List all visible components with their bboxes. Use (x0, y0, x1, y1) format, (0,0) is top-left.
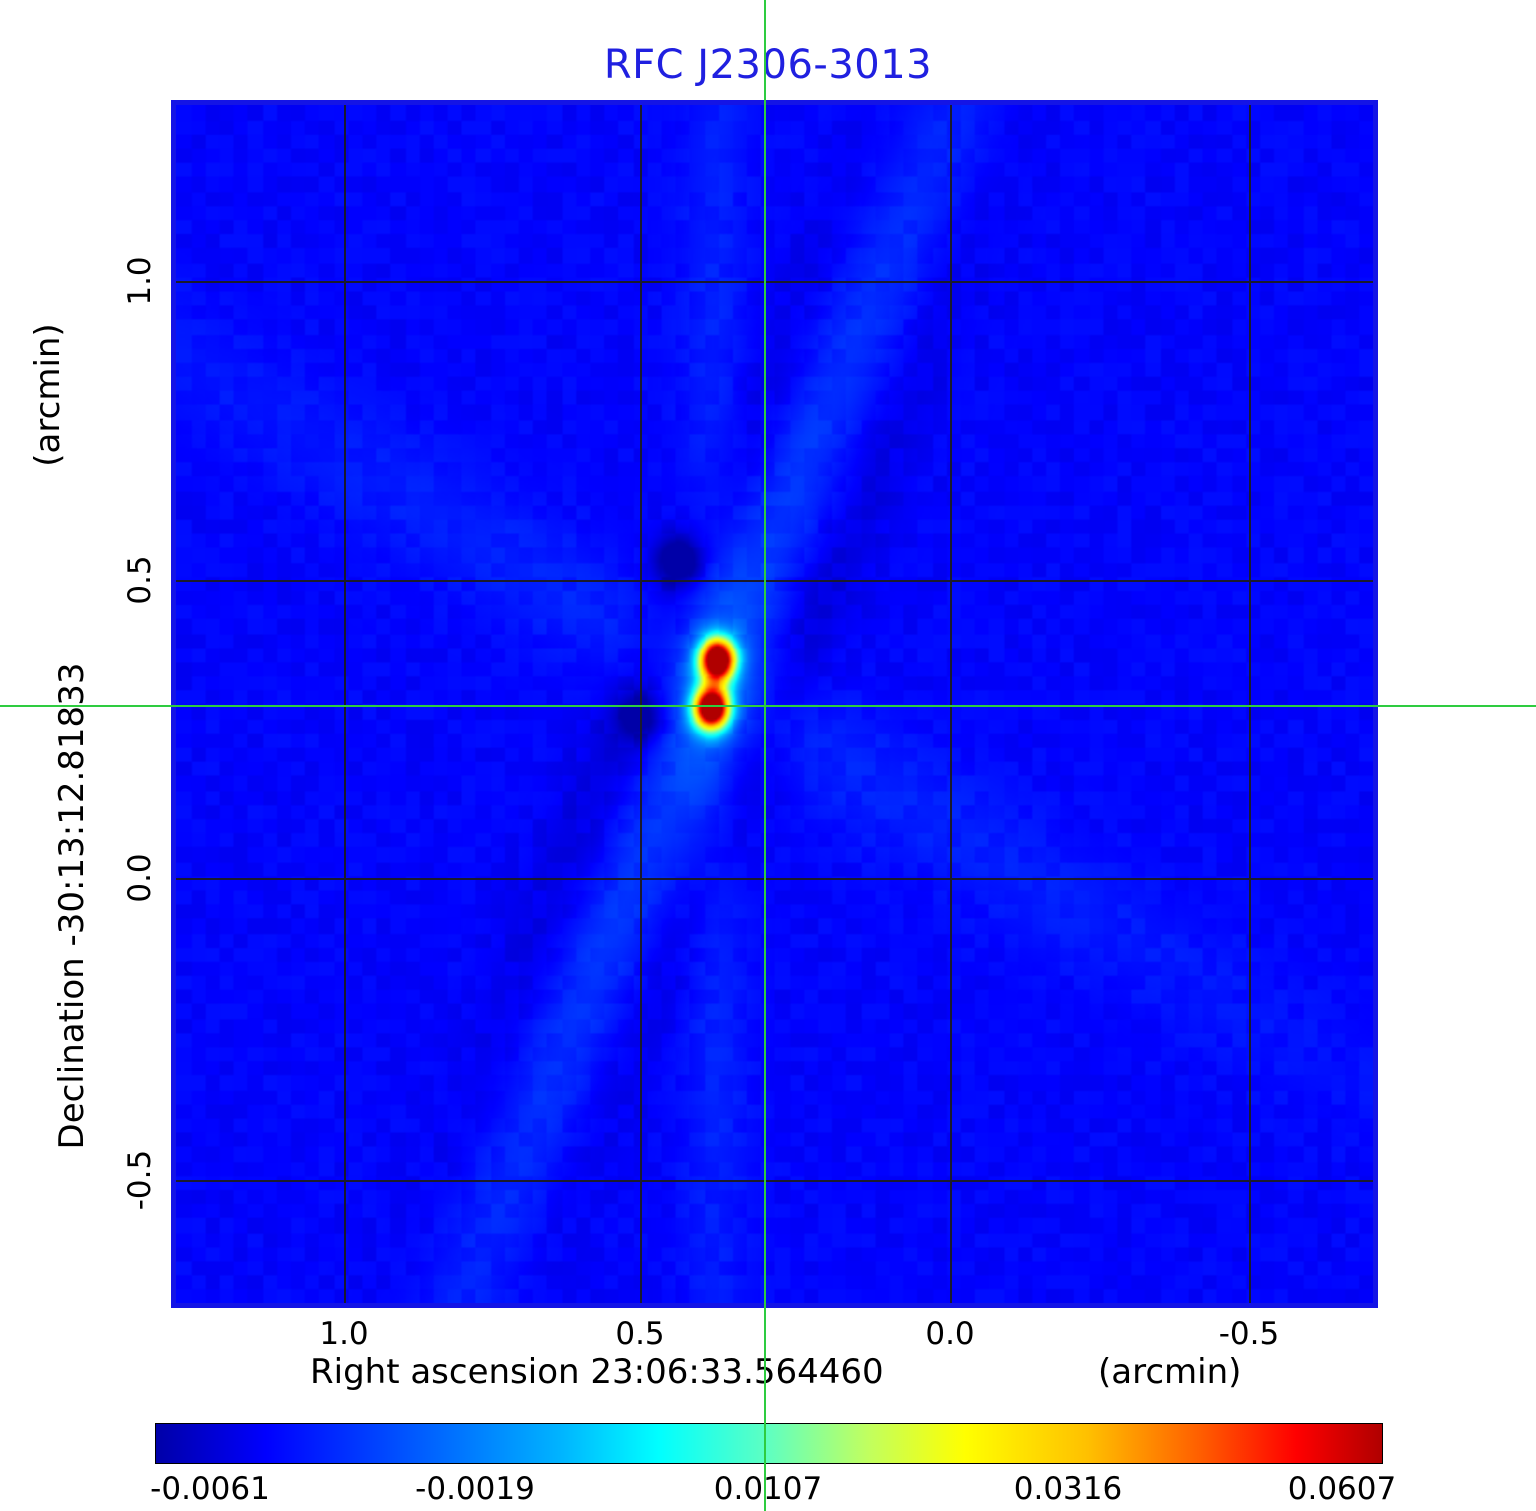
y-axis-title: Declination -30:13:12.81833 (52, 556, 92, 1256)
colorbar-tick-label: 0.0316 (1014, 1471, 1122, 1507)
colorbar-tick-label: -0.0061 (150, 1471, 270, 1507)
x-tick-label: -0.5 (1219, 1316, 1280, 1352)
crosshair-horizontal-line[interactable] (0, 705, 1536, 707)
x-tick-label: 1.0 (319, 1316, 368, 1352)
y-tick-label: 1.0 (122, 256, 158, 305)
crosshair-vertical-line[interactable] (764, 0, 766, 1511)
heatmap-plot-frame[interactable] (171, 100, 1378, 1308)
colorbar-gradient (156, 1424, 1382, 1463)
x-axis-title: Right ascension 23:06:33.564460 (310, 1352, 884, 1392)
y-axis-unit-label: (arcmin) (28, 195, 68, 595)
y-tick-label: -0.5 (122, 1150, 158, 1211)
x-tick-label: 0.5 (615, 1316, 664, 1352)
page-title: RFC J2306-3013 (0, 42, 1536, 88)
colorbar-tick-label: 0.0107 (714, 1471, 822, 1507)
colorbar-tick-label: -0.0019 (415, 1471, 535, 1507)
x-tick-label: 0.0 (925, 1316, 974, 1352)
y-tick-label: 0.0 (122, 853, 158, 902)
y-tick-label: 0.5 (122, 555, 158, 604)
colorbar[interactable] (155, 1423, 1383, 1464)
x-axis-unit-label: (arcmin) (1098, 1352, 1241, 1392)
colorbar-tick-label: 0.0607 (1288, 1471, 1396, 1507)
radio-map-image (176, 105, 1373, 1303)
